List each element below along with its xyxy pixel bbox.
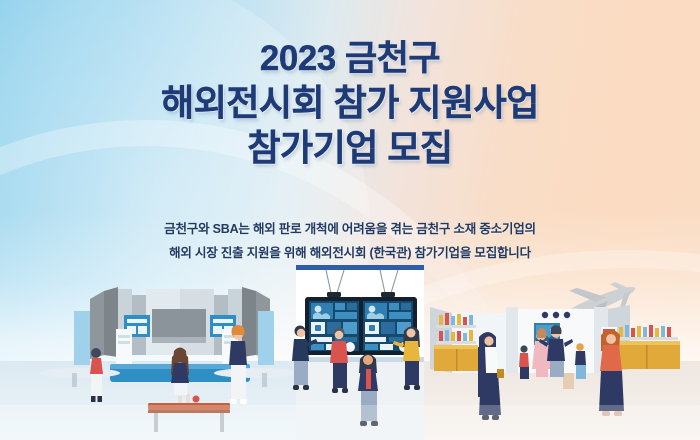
subtitle-line-2: 해외 시장 진출 지원을 위해 해외전시회 (한국관) 참가기업을 모집합니다 [0, 242, 700, 266]
headline-block: 2023 금천구 해외전시회 참가 지원사업 참가기업 모집 [0, 40, 700, 168]
title-line-3: 참가기업 모집 [0, 129, 700, 168]
title-line-1: 2023 금천구 [0, 40, 700, 78]
illustration-svg [0, 265, 700, 440]
poster-root: 2023 금천구 해외전시회 참가 지원사업 참가기업 모집 금천구와 SBA는… [0, 0, 700, 440]
subtitle-line-1: 금천구와 SBA는 해외 판로 개척에 어려움을 겪는 금천구 소재 중소기업의 [0, 218, 700, 242]
subtitle-block: 금천구와 SBA는 해외 판로 개척에 어려움을 겪는 금천구 소재 중소기업의… [0, 218, 700, 266]
illustration-band [0, 265, 700, 440]
title-line-2: 해외전시회 참가 지원사업 [0, 84, 700, 123]
